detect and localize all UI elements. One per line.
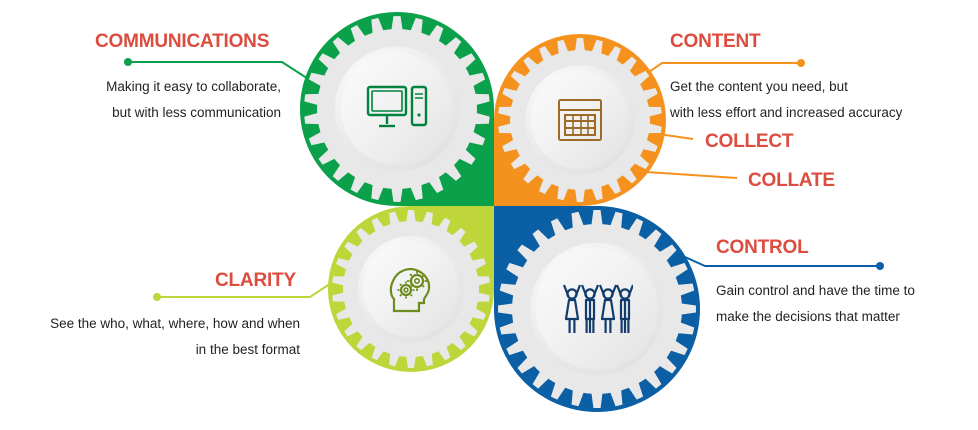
quadrant-content-hub — [531, 71, 629, 169]
label-clarity: CLARITY — [215, 270, 296, 292]
description-content-line2: with less effort and increased accuracy — [670, 100, 970, 126]
description-communications: Making it easy to collaborate, but with … — [0, 74, 281, 126]
description-clarity: See the who, what, where, how and when i… — [0, 311, 300, 363]
label-collect: COLLECT — [705, 131, 793, 153]
quadrant-control-hub — [536, 248, 658, 370]
description-content: Get the content you need, but with less … — [670, 74, 970, 126]
infographic-canvas: COMMUNICATIONS Making it easy to collabo… — [0, 0, 978, 430]
quadrant-communications[interactable] — [300, 12, 494, 206]
description-communications-line1: Making it easy to collaborate, — [0, 74, 281, 100]
description-clarity-line1: See the who, what, where, how and when — [0, 311, 300, 337]
description-content-line1: Get the content you need, but — [670, 74, 970, 100]
head-with-gears-icon — [388, 265, 434, 313]
quadrant-communications-hub — [341, 53, 453, 165]
group-of-people-icon — [561, 281, 633, 337]
desktop-computer-icon — [366, 85, 428, 133]
quadrant-control[interactable] — [494, 206, 700, 412]
quadrant-clarity[interactable] — [328, 206, 494, 372]
label-collate: COLLATE — [748, 170, 835, 192]
description-control-line1: Gain control and have the time to — [716, 278, 976, 304]
spreadsheet-icon — [557, 98, 603, 142]
label-content: CONTENT — [670, 31, 760, 53]
label-communications: COMMUNICATIONS — [95, 31, 269, 53]
description-clarity-line2: in the best format — [0, 337, 300, 363]
description-communications-line2: but with less communication — [0, 100, 281, 126]
description-control-line2: make the decisions that matter — [716, 304, 976, 330]
quadrant-content[interactable] — [494, 34, 666, 206]
label-control: CONTROL — [716, 237, 809, 259]
quadrant-clarity-hub — [363, 241, 459, 337]
description-control: Gain control and have the time to make t… — [716, 278, 976, 330]
